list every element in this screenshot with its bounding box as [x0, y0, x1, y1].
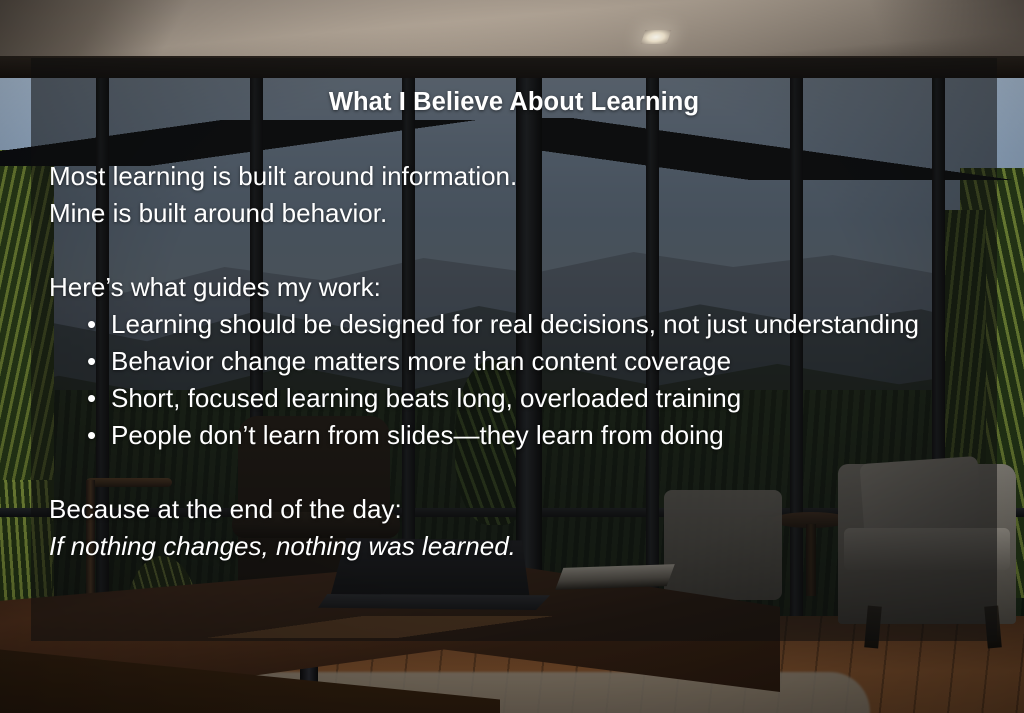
slide-body: Most learning is built around informatio… — [49, 158, 977, 565]
list-item: Behavior change matters more than conten… — [49, 343, 977, 380]
paragraph-spacer-2 — [49, 454, 977, 491]
closing-line-1: Because at the end of the day: — [49, 491, 977, 528]
intro-line-1: Most learning is built around informatio… — [49, 158, 977, 195]
page-title: What I Believe About Learning — [31, 88, 997, 117]
paragraph-spacer-1 — [49, 232, 977, 269]
list-item: Learning should be designed for real dec… — [49, 306, 977, 343]
text-overlay-panel: What I Believe About Learning Most learn… — [31, 58, 997, 641]
beliefs-list: Learning should be designed for real dec… — [49, 306, 977, 454]
intro-line-2: Mine is built around behavior. — [49, 195, 977, 232]
list-item: Short, focused learning beats long, over… — [49, 380, 977, 417]
closing-line-2-italic: If nothing changes, nothing was learned. — [49, 528, 977, 565]
guides-heading: Here’s what guides my work: — [49, 269, 977, 306]
slide-canvas: What I Believe About Learning Most learn… — [0, 0, 1024, 713]
list-item: People don’t learn from slides—they lear… — [49, 417, 977, 454]
